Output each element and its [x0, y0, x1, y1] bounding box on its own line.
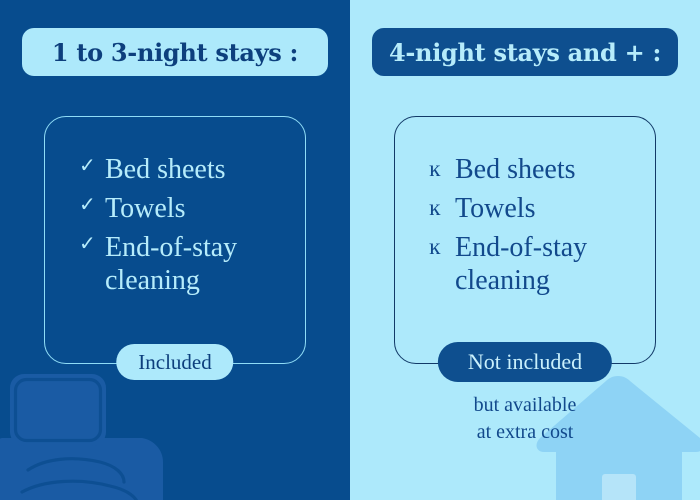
- status-badge-label: Included: [138, 350, 211, 375]
- panel-short-stays: 1 to 3-night stays : ✓ Bed sheets ✓ Towe…: [0, 0, 350, 500]
- list-item-label: Towels: [455, 192, 535, 225]
- list-item-label: End-of-stay cleaning: [105, 231, 305, 297]
- cross-icon: ĸ: [429, 192, 455, 223]
- header-title-short-stays: 1 to 3-night stays :: [52, 38, 298, 67]
- list-item: ✓ End-of-stay cleaning: [79, 231, 305, 297]
- status-badge-label: Not included: [468, 349, 582, 375]
- extra-cost-note-line-2: at extra cost: [350, 419, 700, 446]
- list-item-label: Bed sheets: [455, 153, 576, 186]
- status-badge-not-included: Not included: [438, 342, 612, 382]
- check-icon: ✓: [79, 192, 105, 219]
- header-title-long-stays: 4-night stays and + :: [389, 38, 661, 67]
- list-item-label: Bed sheets: [105, 153, 226, 186]
- folded-linens-icon: [0, 366, 198, 500]
- inclusions-card-long-stays: ĸ Bed sheets ĸ Towels ĸ End-of-stay clea…: [394, 116, 656, 364]
- cross-icon: ĸ: [429, 153, 455, 184]
- list-item-label: Towels: [105, 192, 185, 225]
- status-badge-included: Included: [116, 344, 233, 380]
- inclusions-list-short-stays: ✓ Bed sheets ✓ Towels ✓ End-of-stay clea…: [45, 117, 305, 297]
- stay-inclusions-infographic: 1 to 3-night stays : ✓ Bed sheets ✓ Towe…: [0, 0, 700, 500]
- list-item: ĸ Bed sheets: [429, 153, 655, 186]
- cross-icon: ĸ: [429, 231, 455, 262]
- list-item: ✓ Towels: [79, 192, 305, 225]
- check-icon: ✓: [79, 231, 105, 258]
- inclusions-list-long-stays: ĸ Bed sheets ĸ Towels ĸ End-of-stay clea…: [395, 117, 655, 297]
- header-pill-long-stays: 4-night stays and + :: [372, 28, 678, 76]
- panel-long-stays: 4-night stays and + : ĸ Bed sheets ĸ Tow…: [350, 0, 700, 500]
- extra-cost-note-line-1: but available: [350, 392, 700, 419]
- extra-cost-note: but available at extra cost: [350, 392, 700, 446]
- list-item: ĸ End-of-stay cleaning: [429, 231, 655, 297]
- list-item: ĸ Towels: [429, 192, 655, 225]
- list-item-label: End-of-stay cleaning: [455, 231, 655, 297]
- header-pill-short-stays: 1 to 3-night stays :: [22, 28, 328, 76]
- inclusions-card-short-stays: ✓ Bed sheets ✓ Towels ✓ End-of-stay clea…: [44, 116, 306, 364]
- list-item: ✓ Bed sheets: [79, 153, 305, 186]
- check-icon: ✓: [79, 153, 105, 180]
